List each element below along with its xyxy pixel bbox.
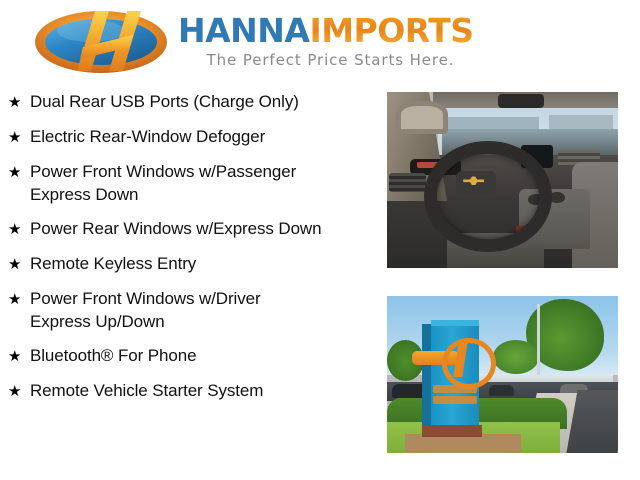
star-bullet-icon: ★ — [8, 125, 30, 149]
star-bullet-icon: ★ — [8, 287, 30, 311]
star-bullet-icon: ★ — [8, 217, 30, 241]
feature-label: Power Front Windows w/Passenger Express … — [30, 160, 378, 206]
feature-label: Dual Rear USB Ports (Charge Only) — [30, 90, 378, 113]
steering-wheel — [424, 141, 552, 251]
feature-label: Power Rear Windows w/Express Down — [30, 217, 378, 240]
feature-item: ★ Power Rear Windows w/Express Down — [0, 217, 378, 241]
sign-text-hanna — [433, 385, 477, 393]
star-bullet-icon: ★ — [8, 344, 30, 368]
light-pole — [537, 304, 540, 386]
feature-item: ★ Electric Rear-Window Defogger — [0, 125, 378, 149]
air-vent-left — [389, 173, 426, 192]
feature-item: ★ Remote Keyless Entry — [0, 252, 378, 276]
wordmark-imports: IMPORTS — [309, 11, 473, 50]
feature-item: ★ Power Front Windows w/Driver Express U… — [0, 287, 378, 333]
feature-item: ★ Power Front Windows w/Passenger Expres… — [0, 160, 378, 206]
star-bullet-icon: ★ — [8, 379, 30, 403]
monument-sign-base — [422, 425, 482, 438]
feature-label: Electric Rear-Window Defogger — [30, 125, 378, 148]
star-bullet-icon: ★ — [8, 90, 30, 114]
brand-tagline: The Perfect Price Starts Here. — [178, 51, 483, 69]
brand-wordmark: HANNAIMPORTS The Perfect Price Starts He… — [178, 14, 508, 76]
features-list: ★ Dual Rear USB Ports (Charge Only) ★ El… — [0, 90, 378, 414]
vehicle-features-card: HANNAIMPORTS The Perfect Price Starts He… — [0, 0, 640, 480]
wordmark-text: HANNAIMPORTS — [178, 14, 508, 48]
dealership-exterior-scene — [387, 296, 618, 453]
feature-label: Remote Vehicle Starter System — [30, 379, 378, 402]
parked-car — [489, 385, 514, 396]
feature-item: ★ Bluetooth® For Phone — [0, 344, 378, 368]
feature-label: Remote Keyless Entry — [30, 252, 378, 275]
dealership-exterior-photo — [387, 296, 618, 453]
feature-label: Bluetooth® For Phone — [30, 344, 378, 367]
rearview-mirror — [498, 94, 544, 108]
door-grab-handle — [396, 101, 448, 134]
vehicle-interior-photo — [387, 92, 618, 268]
hanna-h-emblem-icon — [33, 9, 169, 75]
sign-text-imports — [433, 396, 477, 404]
star-bullet-icon: ★ — [8, 252, 30, 276]
vehicle-interior-scene — [387, 92, 618, 268]
wordmark-hanna: HANNA — [178, 11, 309, 50]
monument-sign-cap — [431, 320, 480, 326]
brand-header: HANNAIMPORTS The Perfect Price Starts He… — [0, 0, 640, 86]
feature-item: ★ Remote Vehicle Starter System — [0, 379, 378, 403]
star-bullet-icon: ★ — [8, 160, 30, 184]
feature-label: Power Front Windows w/Driver Express Up/… — [30, 287, 378, 333]
feature-item: ★ Dual Rear USB Ports (Charge Only) — [0, 90, 378, 114]
